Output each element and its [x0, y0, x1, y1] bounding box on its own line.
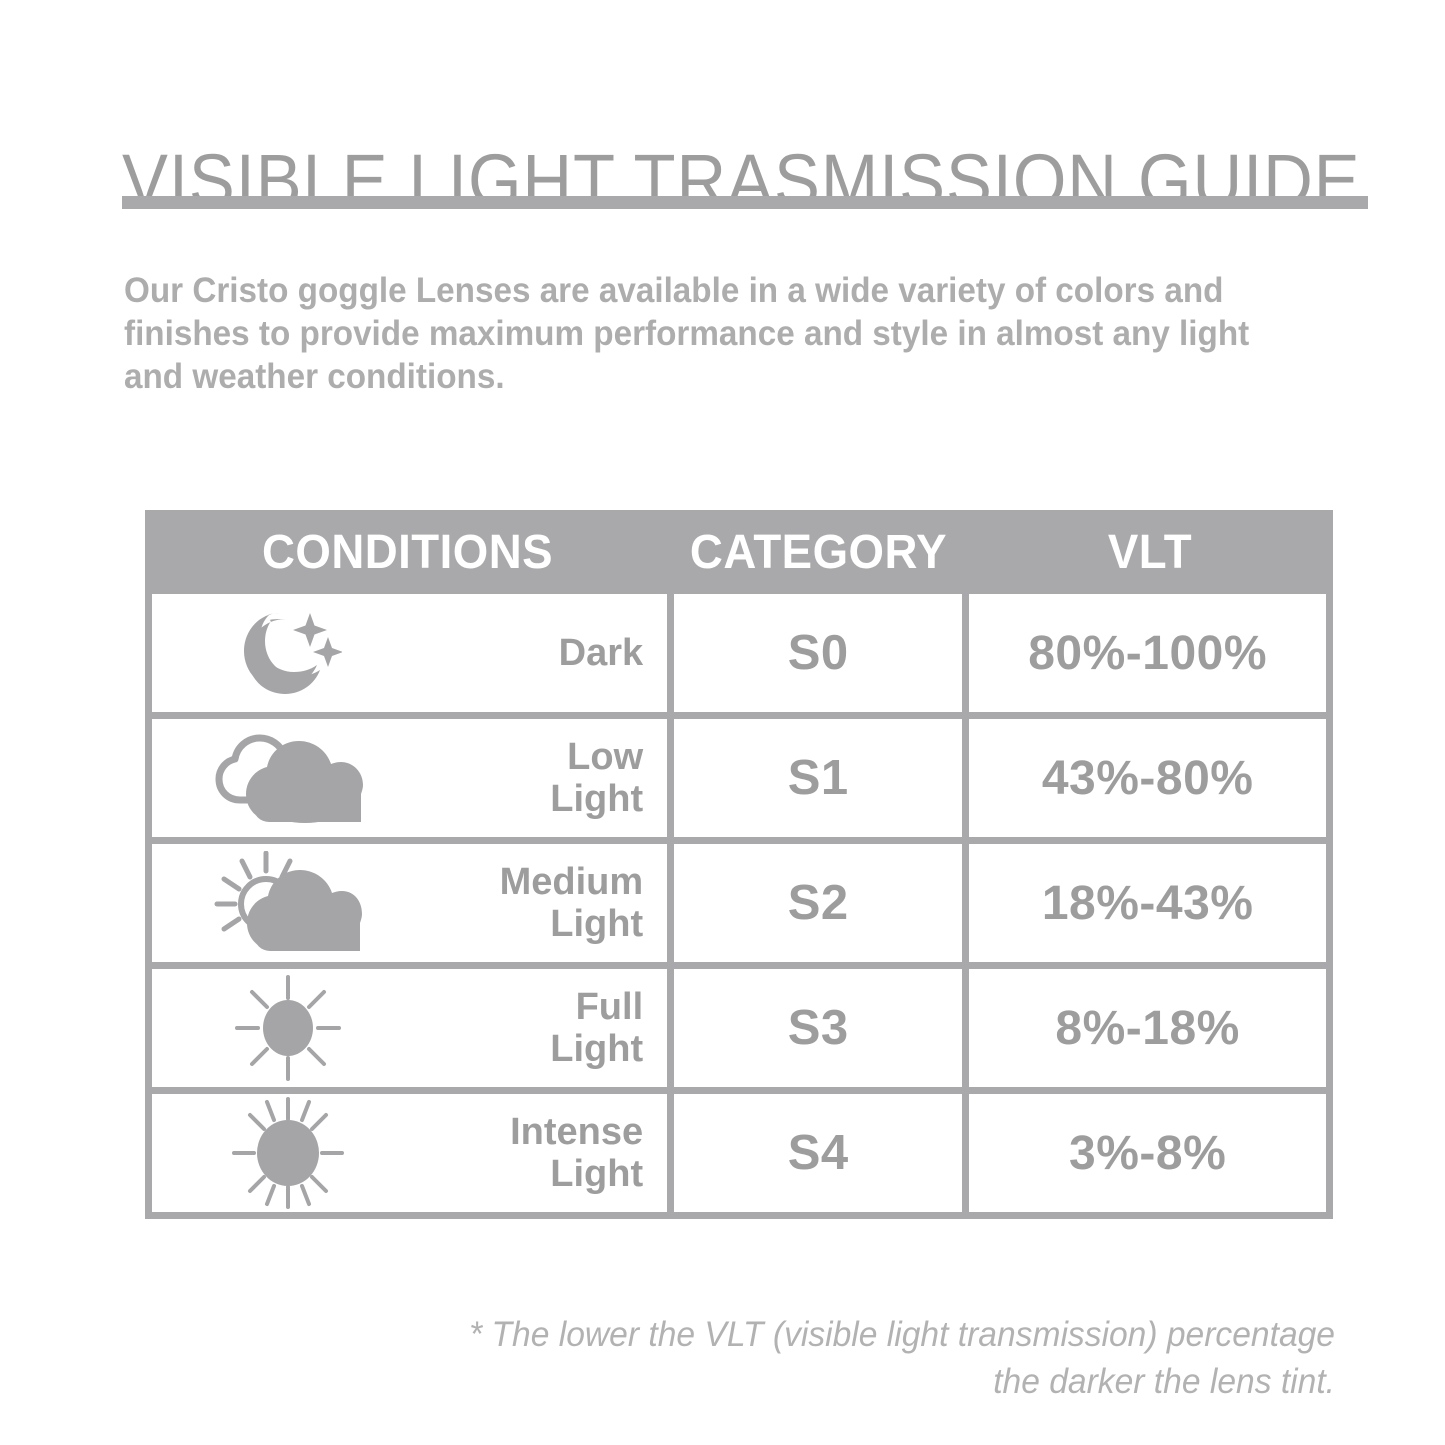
vlt-cell: 80%-100% — [969, 594, 1326, 712]
vlt-table: CONDITIONS CATEGORY VLT Dark — [145, 510, 1333, 1219]
footnote-text: * The lower the VLT (visible light trans… — [457, 1311, 1335, 1405]
conditions-cell: IntenseLight — [152, 1094, 667, 1212]
moon-stars-icon — [198, 607, 378, 699]
column-header-vlt: VLT — [976, 525, 1324, 580]
category-cell: S4 — [674, 1094, 962, 1212]
vlt-cell: 18%-43% — [969, 844, 1326, 962]
clouds-icon — [198, 730, 378, 826]
table-body: Dark S0 80%-100% — [145, 594, 1333, 1219]
column-header-conditions: CONDITIONS — [158, 525, 657, 580]
bright-sun-icon — [198, 1095, 378, 1211]
category-value: S3 — [788, 1000, 849, 1056]
condition-label: Dark — [378, 632, 643, 674]
category-cell: S2 — [674, 844, 962, 962]
category-value: S2 — [788, 875, 849, 931]
vlt-cell: 43%-80% — [969, 719, 1326, 837]
table-row: IntenseLight S4 3%-8% — [152, 1094, 1326, 1212]
table-row: LowLight S1 43%-80% — [152, 719, 1326, 837]
title-divider — [122, 196, 1368, 209]
vlt-value: 3%-8% — [1069, 1126, 1226, 1181]
condition-label: LowLight — [378, 736, 643, 820]
conditions-cell: FullLight — [152, 969, 667, 1087]
conditions-cell: LowLight — [152, 719, 667, 837]
vlt-cell: 8%-18% — [969, 969, 1326, 1087]
condition-label: FullLight — [378, 986, 643, 1070]
vlt-value: 43%-80% — [1042, 751, 1254, 806]
column-header-category: CATEGORY — [677, 525, 959, 580]
conditions-cell: Dark — [152, 594, 667, 712]
vlt-value: 18%-43% — [1042, 876, 1254, 931]
sun-icon — [198, 974, 378, 1082]
table-row: Dark S0 80%-100% — [152, 594, 1326, 712]
page-title: VISIBLE LIGHT TRASMISSION GUIDE — [122, 138, 1285, 224]
category-value: S4 — [788, 1125, 849, 1181]
category-value: S1 — [788, 750, 849, 806]
category-cell: S0 — [674, 594, 962, 712]
sun-cloud-icon — [198, 851, 378, 955]
category-value: S0 — [788, 625, 849, 681]
table-header-row: CONDITIONS CATEGORY VLT — [145, 510, 1333, 594]
category-cell: S1 — [674, 719, 962, 837]
intro-paragraph: Our Cristo goggle Lenses are available i… — [124, 269, 1278, 398]
table-row: FullLight S3 8%-18% — [152, 969, 1326, 1087]
vlt-value: 8%-18% — [1055, 1001, 1239, 1056]
vlt-guide-page: VISIBLE LIGHT TRASMISSION GUIDE Our Cris… — [0, 0, 1445, 1445]
category-cell: S3 — [674, 969, 962, 1087]
vlt-value: 80%-100% — [1028, 626, 1267, 681]
vlt-cell: 3%-8% — [969, 1094, 1326, 1212]
condition-label: IntenseLight — [378, 1111, 643, 1195]
condition-label: MediumLight — [378, 861, 643, 945]
table-row: MediumLight S2 18%-43% — [152, 844, 1326, 962]
conditions-cell: MediumLight — [152, 844, 667, 962]
